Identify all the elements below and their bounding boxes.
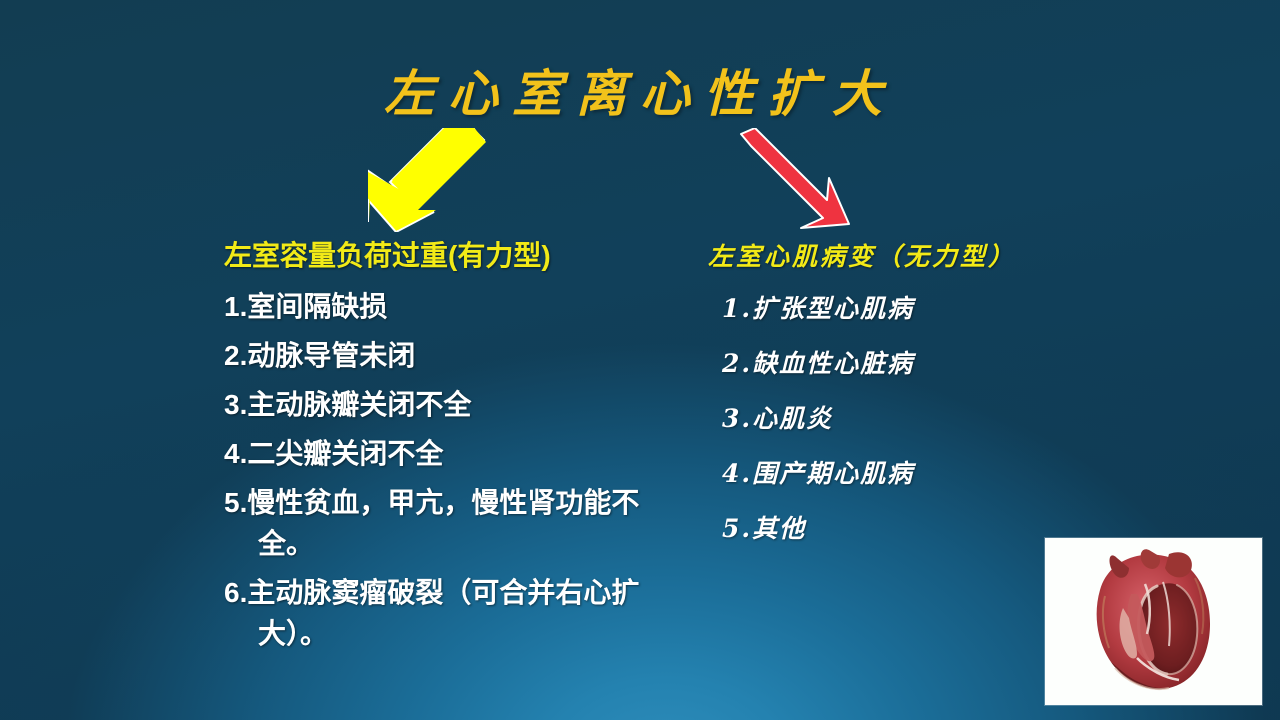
list-item-text: 主动脉瓣关闭不全: [247, 389, 471, 420]
list-item: 5.其他: [722, 512, 1078, 546]
list-item-number: 5.: [224, 487, 247, 518]
list-item-number: 1.: [224, 291, 247, 322]
list-item-text: 动脉导管未闭: [247, 340, 415, 371]
list-item-number: 1.: [722, 294, 752, 323]
list-item-number: 2.: [722, 349, 752, 378]
heart-illustration: [1045, 538, 1262, 705]
list-item: 4.二尖瓣关闭不全: [224, 433, 654, 474]
list-item-text: 慢性贫血，甲亢，慢性肾功能不全。: [247, 487, 639, 559]
list-item-text: 围产期心肌病: [752, 459, 914, 488]
list-item-number: 4.: [722, 459, 752, 488]
list-item: 1.室间隔缺损: [224, 286, 654, 327]
list-item-number: 5.: [722, 514, 752, 543]
list-item: 6.主动脉窦瘤破裂（可合并右心扩大）。: [224, 572, 654, 654]
left-column-list: 1.室间隔缺损 2.动脉导管未闭 3.主动脉瓣关闭不全 4.二尖瓣关闭不全 5.…: [224, 286, 654, 654]
list-item-text: 心肌炎: [752, 404, 833, 433]
left-column-heading: 左室容量负荷过重(有力型): [224, 238, 654, 274]
list-item: 3.心肌炎: [722, 402, 1078, 436]
list-item: 1.扩张型心肌病: [722, 292, 1078, 326]
list-item-text: 缺血性心脏病: [752, 349, 914, 378]
right-column: 左室心肌病变（无力型） 1.扩张型心肌病 2.缺血性心脏病 3.心肌炎 4.围产…: [708, 240, 1078, 567]
list-item: 5.慢性贫血，甲亢，慢性肾功能不全。: [224, 482, 654, 564]
list-item-number: 4.: [224, 438, 247, 469]
yellow-arrow-icon: [368, 128, 488, 232]
list-item-text: 二尖瓣关闭不全: [247, 438, 443, 469]
list-item-number: 2.: [224, 340, 247, 371]
heart-specimen-image: [1045, 538, 1262, 705]
list-item: 2.动脉导管未闭: [224, 335, 654, 376]
list-item-number: 6.: [224, 577, 247, 608]
red-arrow-icon: [735, 128, 853, 238]
list-item: 3.主动脉瓣关闭不全: [224, 384, 654, 425]
list-item-number: 3.: [224, 389, 247, 420]
page-title: 左心室离心性扩大: [0, 54, 1280, 126]
list-item-text: 其他: [752, 514, 806, 543]
slide-canvas: 左心室离心性扩大 左室容量负荷过重(有力型) 1.室间隔缺损 2.动脉导管未闭 …: [0, 0, 1280, 720]
list-item: 4.围产期心肌病: [722, 457, 1078, 491]
right-column-list: 1.扩张型心肌病 2.缺血性心脏病 3.心肌炎 4.围产期心肌病 5.其他: [722, 292, 1078, 546]
list-item-text: 扩张型心肌病: [752, 294, 914, 323]
left-column: 左室容量负荷过重(有力型) 1.室间隔缺损 2.动脉导管未闭 3.主动脉瓣关闭不…: [224, 238, 654, 662]
list-item: 2.缺血性心脏病: [722, 347, 1078, 381]
list-item-number: 3.: [722, 404, 752, 433]
list-item-text: 室间隔缺损: [247, 291, 387, 322]
right-column-heading: 左室心肌病变（无力型）: [708, 240, 1078, 274]
list-item-text: 主动脉窦瘤破裂（可合并右心扩大）。: [247, 577, 639, 649]
